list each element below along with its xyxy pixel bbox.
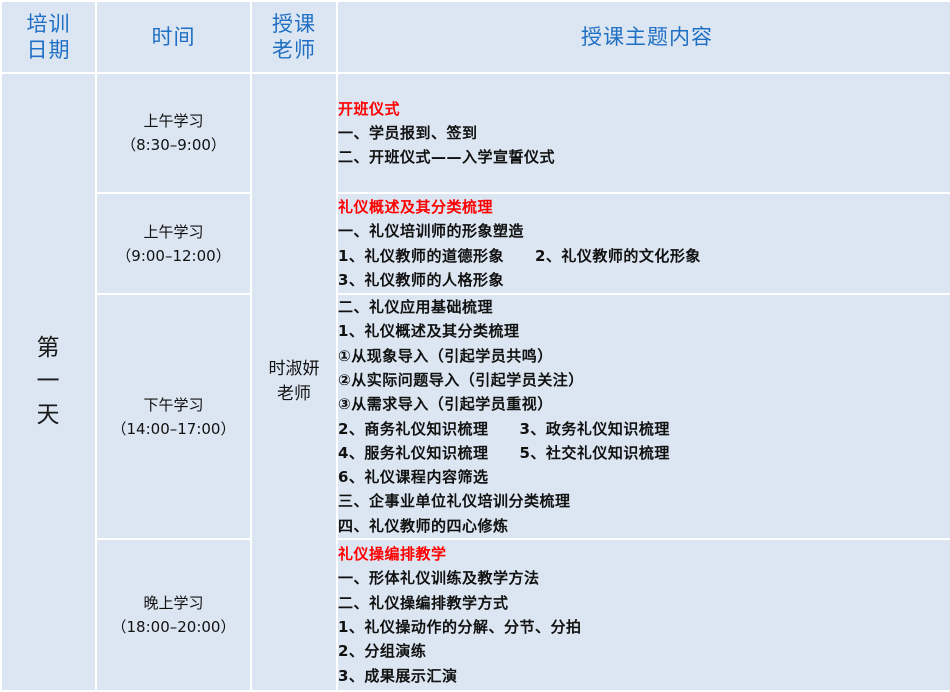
teacher-cell: 时淑妍 老师 — [252, 74, 336, 690]
table-header-row: 培训 日期 时间 授课 老师 授课主题内容 — [2, 2, 950, 72]
topic-line: ②从实际问题导入（引起学员关注） — [338, 368, 950, 392]
time-cell-3: 下午学习 （14:00–17:00） — [97, 295, 250, 538]
topic-line: 二、礼仪应用基础梳理 — [338, 295, 950, 319]
table-row: 第 一 天 上午学习 （8:30–9:00） 时淑妍 老师 开班仪式 一、学员报… — [2, 74, 950, 192]
time-cell-4: 晚上学习 （18:00–20:00） — [97, 540, 250, 690]
topic-title-2: 礼仪概述及其分类梳理 — [338, 195, 950, 219]
time-cell-1: 上午学习 （8:30–9:00） — [97, 74, 250, 192]
topic-line: ③从需求导入（引起学员重视） — [338, 392, 950, 416]
day-label: 第 一 天 — [37, 332, 61, 432]
topic-title-4: 礼仪操编排教学 — [338, 542, 950, 566]
topic-line: 3、礼仪教师的人格形象 — [338, 268, 950, 292]
day-cell: 第 一 天 — [2, 74, 95, 690]
column-header-teacher: 授课 老师 — [252, 2, 336, 72]
topic-cell-3: 二、礼仪应用基础梳理 1、礼仪概述及其分类梳理 ①从现象导入（引起学员共鸣） ②… — [338, 295, 950, 538]
topic-line: ①从现象导入（引起学员共鸣） — [338, 344, 950, 368]
table-row: 上午学习 （9:00–12:00） 礼仪概述及其分类梳理 一、礼仪培训师的形象塑… — [2, 194, 950, 293]
topic-line: 一、形体礼仪训练及教学方法 — [338, 566, 950, 590]
topic-cell-4: 礼仪操编排教学 一、形体礼仪训练及教学方法 二、礼仪操编排教学方式 1、礼仪操动… — [338, 540, 950, 690]
topic-line: 2、分组演练 — [338, 639, 950, 663]
topic-line: 1、礼仪教师的道德形象 2、礼仪教师的文化形象 — [338, 244, 950, 268]
time-cell-2: 上午学习 （9:00–12:00） — [97, 194, 250, 293]
topic-line: 6、礼仪课程内容筛选 — [338, 465, 950, 489]
topic-line: 二、开班仪式——入学宣誓仪式 — [338, 145, 950, 169]
topic-line: 一、学员报到、签到 — [338, 121, 950, 145]
topic-line: 4、服务礼仪知识梳理 5、社交礼仪知识梳理 — [338, 441, 950, 465]
topic-cell-1: 开班仪式 一、学员报到、签到 二、开班仪式——入学宣誓仪式 — [338, 74, 950, 192]
table-row: 下午学习 （14:00–17:00） 二、礼仪应用基础梳理 1、礼仪概述及其分类… — [2, 295, 950, 538]
column-header-training-date: 培训 日期 — [2, 2, 95, 72]
column-header-time: 时间 — [97, 2, 250, 72]
topic-line: 1、礼仪操动作的分解、分节、分拍 — [338, 615, 950, 639]
topic-line: 二、礼仪操编排教学方式 — [338, 591, 950, 615]
topic-line: 2、商务礼仪知识梳理 3、政务礼仪知识梳理 — [338, 417, 950, 441]
topic-cell-2: 礼仪概述及其分类梳理 一、礼仪培训师的形象塑造 1、礼仪教师的道德形象 2、礼仪… — [338, 194, 950, 293]
topic-line: 四、礼仪教师的四心修炼 — [338, 514, 950, 538]
training-schedule-table: 培训 日期 时间 授课 老师 授课主题内容 第 一 天 上午学习 （8:30–9… — [0, 0, 950, 692]
table-row: 晚上学习 （18:00–20:00） 礼仪操编排教学 一、形体礼仪训练及教学方法… — [2, 540, 950, 690]
topic-title-1: 开班仪式 — [338, 97, 950, 121]
topic-line: 1、礼仪概述及其分类梳理 — [338, 319, 950, 343]
topic-line: 三、企事业单位礼仪培训分类梳理 — [338, 489, 950, 513]
topic-line: 3、成果展示汇演 — [338, 664, 950, 688]
column-header-topic-content: 授课主题内容 — [338, 2, 950, 72]
topic-line: 一、礼仪培训师的形象塑造 — [338, 219, 950, 243]
